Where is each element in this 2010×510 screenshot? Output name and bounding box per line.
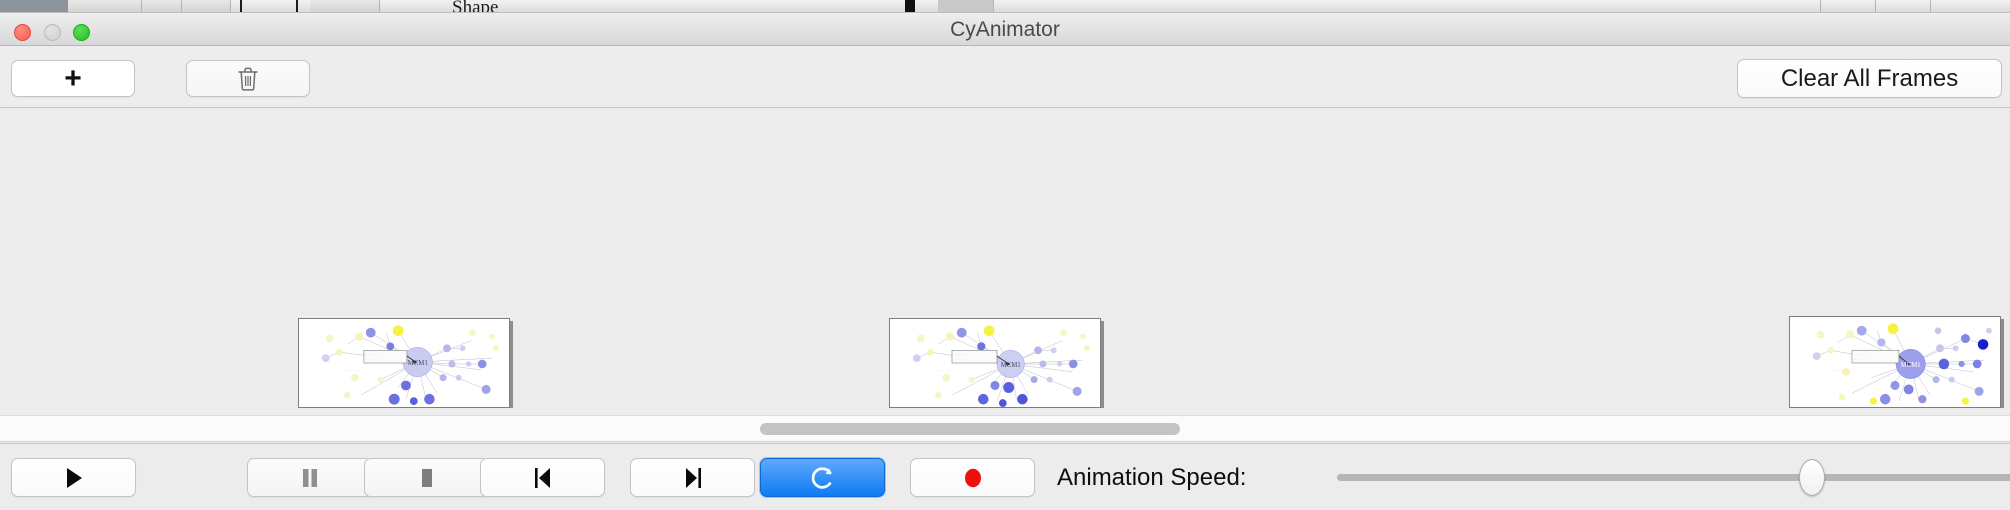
skip-to-start-button[interactable]	[480, 458, 605, 497]
timeline-frame-thumbnail[interactable]: .... .. ... ..... ... .... ... .... ....…	[889, 318, 1101, 408]
svg-text:.... .. ... .....: .... .. ... .....	[366, 353, 378, 356]
stop-icon	[365, 459, 488, 496]
svg-text:.... .. ... .....: .... .. ... .....	[1854, 353, 1866, 356]
window-title: CyAnimator	[0, 13, 2010, 46]
network-graph-thumbnail: .... .. ... ..... ... .... ... .... ....…	[299, 319, 509, 407]
animation-speed-label: Animation Speed:	[1057, 458, 1246, 497]
add-frame-button[interactable]: +	[11, 60, 135, 97]
plus-icon: +	[12, 61, 134, 96]
bg-segment	[142, 0, 182, 13]
clear-all-frames-button[interactable]: Clear All Frames	[1737, 59, 2002, 98]
bg-segment	[310, 0, 380, 13]
trash-icon	[187, 61, 309, 98]
bg-tick	[296, 0, 298, 13]
record-icon	[911, 459, 1034, 496]
frame-toolbar: + Clear All Frames	[0, 46, 2010, 108]
bg-segment	[938, 0, 994, 13]
horizontal-scrollbar-thumb[interactable]	[760, 423, 1180, 435]
network-graph-thumbnail: .... .. ... ..... ... .... ... .... ....…	[1790, 317, 2000, 407]
animation-speed-slider[interactable]	[1337, 474, 2010, 482]
pause-icon	[248, 459, 371, 496]
hub-node-label: MCM1	[1901, 362, 1921, 369]
loop-button[interactable]	[760, 458, 885, 497]
network-graph-thumbnail: .... .. ... ..... ... .... ... .... ....…	[890, 319, 1100, 407]
stop-button[interactable]	[364, 458, 489, 497]
bg-selected-tab	[0, 0, 68, 13]
skip-forward-icon	[631, 459, 754, 496]
skip-back-icon	[481, 459, 604, 496]
svg-text:.... .. ... .....: .... .. ... .....	[954, 353, 966, 356]
bg-tick	[240, 0, 242, 13]
animation-speed-slider-track[interactable]	[1337, 474, 2010, 481]
pause-button[interactable]	[247, 458, 372, 497]
svg-text:... .... ...: ... .... ...	[1854, 358, 1863, 361]
record-button[interactable]	[910, 458, 1035, 497]
window-titlebar[interactable]: CyAnimator	[0, 13, 2010, 46]
clear-all-frames-label: Clear All Frames	[1738, 60, 2001, 97]
background-window-strip: Shape	[0, 0, 2010, 13]
delete-frame-button[interactable]	[186, 60, 310, 97]
timeline-frame-thumbnail[interactable]: .... .. ... ..... ... .... ... .... ....…	[1789, 316, 2001, 408]
play-icon	[12, 459, 135, 496]
bg-segment	[68, 0, 142, 13]
svg-text:.... .... ... .... ... ...: .... .... ... .... ... ...	[343, 369, 362, 372]
hub-node-label: MCM1	[1001, 362, 1021, 369]
timeline-frame-thumbnail[interactable]: .... .. ... ..... ... .... ... .... ....…	[298, 318, 510, 408]
hub-node-label: MCM1	[408, 360, 428, 367]
animation-speed-slider-thumb[interactable]	[1799, 459, 1825, 496]
svg-text:.... .... ... .... ... ...: .... .... ... .... ... ...	[1832, 369, 1851, 372]
loop-icon	[761, 459, 884, 496]
background-window-label: Shape	[452, 0, 498, 13]
skip-to-end-button[interactable]	[630, 458, 755, 497]
play-button[interactable]	[11, 458, 136, 497]
bg-segment	[1875, 0, 1876, 13]
playback-control-bar: Animation Speed:	[0, 443, 2010, 510]
svg-text:.... .... ... .... ... ...: .... .... ... .... ... ...	[932, 369, 951, 372]
svg-text:... .... ...: ... .... ...	[954, 358, 963, 361]
svg-text:... .... ...: ... .... ...	[366, 358, 375, 361]
bg-segment	[1820, 0, 1821, 13]
bg-tick	[905, 0, 915, 13]
bg-segment	[1930, 0, 1931, 13]
timeline-panel[interactable]: .... .. ... ..... ... .... ... .... ....…	[0, 108, 2010, 408]
bg-segment	[182, 0, 231, 13]
